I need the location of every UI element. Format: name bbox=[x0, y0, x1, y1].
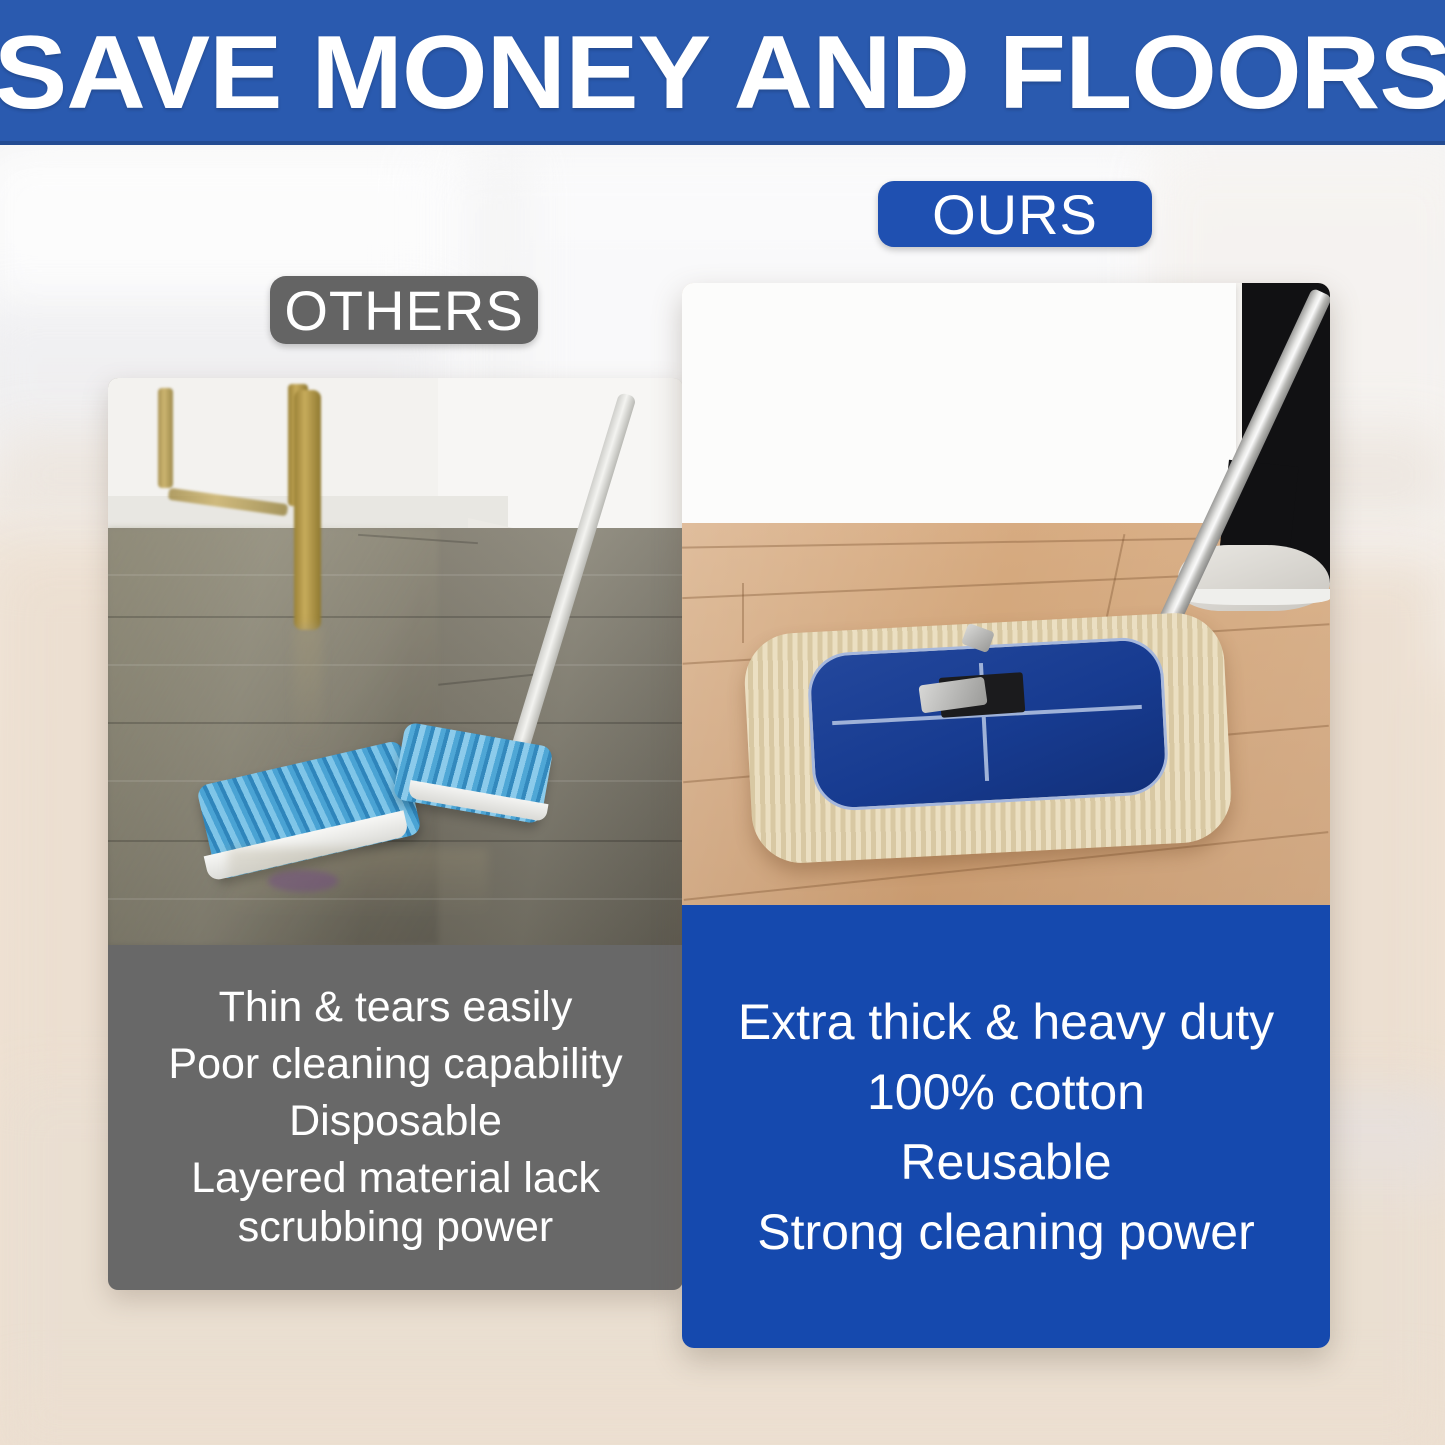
bg-highlight-band-3 bbox=[0, 1380, 1445, 1445]
ours-feature-item: Reusable bbox=[890, 1127, 1121, 1197]
ours-feature-item: 100% cotton bbox=[857, 1057, 1155, 1127]
others-leg-reflection bbox=[294, 626, 322, 746]
ours-feature-item: Strong cleaning power bbox=[747, 1197, 1265, 1267]
badge-ours: OURS bbox=[878, 181, 1152, 247]
others-photo bbox=[108, 378, 683, 945]
others-floor-plank bbox=[108, 664, 683, 666]
others-feature-panel: Thin & tears easily Poor cleaning capabi… bbox=[108, 945, 683, 1290]
others-floor-plank bbox=[108, 574, 683, 576]
badge-others: OTHERS bbox=[270, 276, 538, 344]
others-feature-item: Poor cleaning capability bbox=[156, 1036, 634, 1093]
others-feature-item: Thin & tears easily bbox=[207, 979, 585, 1036]
ours-card: Extra thick & heavy duty 100% cotton Reu… bbox=[682, 283, 1330, 1348]
badge-ours-label: OURS bbox=[932, 182, 1098, 247]
others-mop-reflection bbox=[228, 848, 488, 918]
banner-bottom-edge bbox=[0, 141, 1445, 145]
ours-feature-panel: Extra thick & heavy duty 100% cotton Reu… bbox=[682, 905, 1330, 1348]
others-table-leg-front bbox=[294, 390, 321, 630]
others-floor-plank bbox=[108, 616, 683, 618]
ours-shoe-sole bbox=[1182, 589, 1330, 605]
ours-photo bbox=[682, 283, 1330, 905]
ours-mop-pad bbox=[806, 636, 1170, 812]
ours-white-panel bbox=[682, 283, 1236, 528]
infographic-canvas: SAVE MONEY AND FLOORS OTHERS OURS bbox=[0, 0, 1445, 1445]
ours-feature-item: Extra thick & heavy duty bbox=[728, 987, 1284, 1057]
ours-floor-seam-vertical bbox=[742, 583, 744, 643]
others-feature-item: Layered material lack scrubbing power bbox=[179, 1150, 612, 1256]
header-banner: SAVE MONEY AND FLOORS bbox=[0, 0, 1445, 145]
others-floor-plank bbox=[108, 840, 683, 842]
others-card: Thin & tears easily Poor cleaning capabi… bbox=[108, 378, 683, 1290]
others-floor-plank bbox=[108, 722, 683, 724]
others-feature-item: Disposable bbox=[277, 1093, 514, 1150]
others-floor-stain bbox=[268, 870, 338, 892]
badge-others-label: OTHERS bbox=[284, 278, 523, 343]
others-table-leg-far bbox=[158, 388, 173, 488]
page-title: SAVE MONEY AND FLOORS bbox=[0, 21, 1445, 125]
